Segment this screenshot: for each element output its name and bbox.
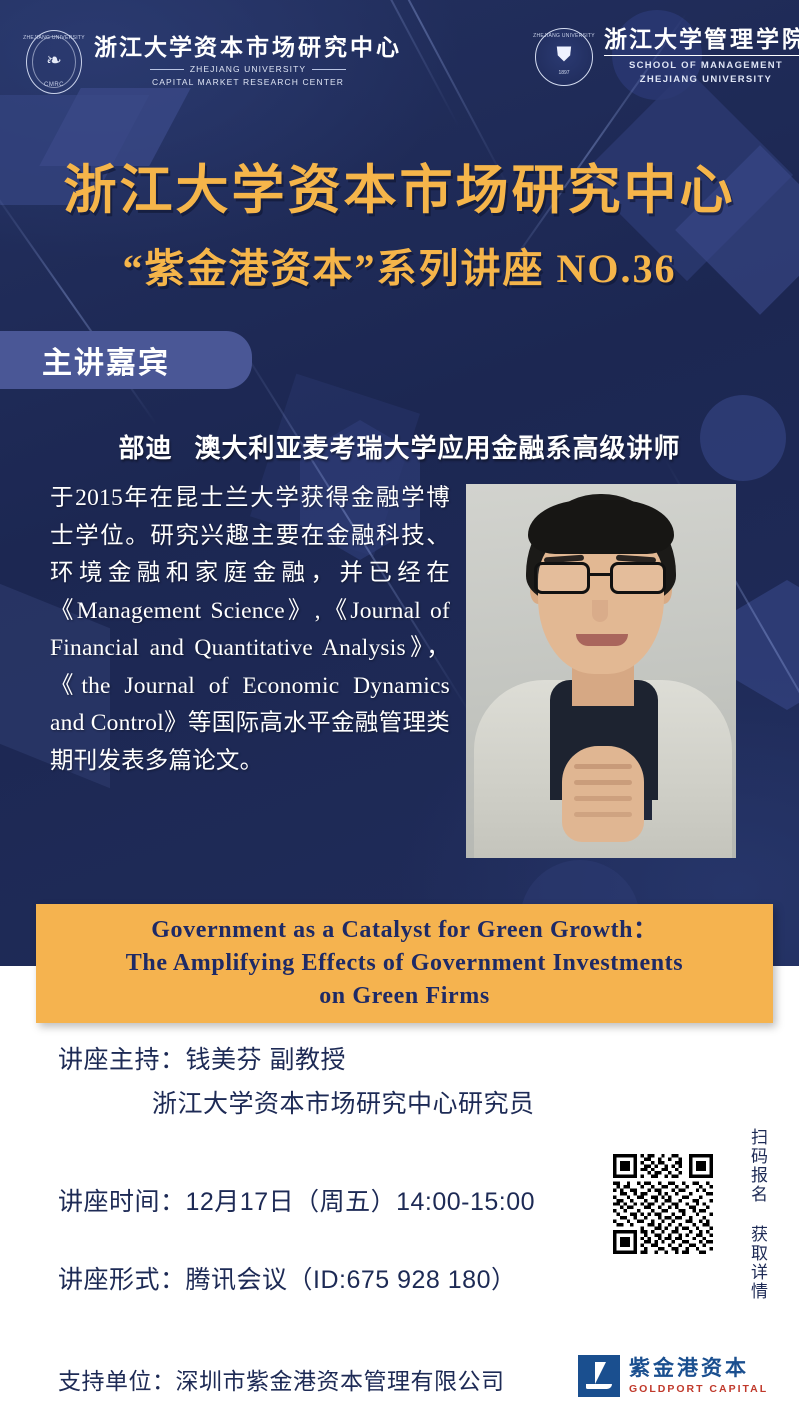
info-host-affiliation: 浙江大学资本市场研究中心研究员 [152, 1084, 535, 1120]
topic-line-2: The Amplifying Effects of Government Inv… [126, 947, 683, 980]
speaker-name: 部迪 [118, 434, 172, 463]
cmrc-logo-en: ZHEJIANG UNIVERSITY CAPITAL MARKET RESEA… [94, 63, 402, 88]
goldport-logo-text: 紫金港资本 GOLDPORT CAPITAL [629, 1357, 768, 1394]
som-en-line2: ZHEJIANG UNIVERSITY [604, 73, 799, 87]
goldport-sail-icon [578, 1355, 620, 1397]
som-en-line1: SCHOOL OF MANAGEMENT [604, 55, 799, 73]
info-host-line: 讲座主持：钱美芬 副教授 [58, 1040, 346, 1076]
speaker-photo [466, 484, 736, 858]
photo-hands [562, 746, 644, 842]
glasses-bridge [590, 573, 612, 576]
cmrc-cn-university: 浙江大学 [94, 35, 194, 60]
info-format-line: 讲座形式：腾讯会议（ID:675 928 180） [58, 1260, 516, 1296]
glasses-lens-left [534, 562, 590, 594]
photo-fringe [528, 500, 674, 554]
cmrc-cn-center: 资本市场研究中心 [194, 35, 402, 60]
cmrc-logo: ZHEJIANG UNIVERSITY ❧ CMRC 浙江大学资本市场研究中心 … [26, 30, 402, 94]
cmrc-en-line2: CAPITAL MARKET RESEARCH CENTER [94, 76, 402, 88]
speaker-name-line: 部迪澳大利亚麦考瑞大学应用金融系高级讲师 [0, 428, 799, 465]
zju-cmrc-seal-icon: ZHEJIANG UNIVERSITY ❧ CMRC [26, 30, 82, 94]
goldport-en-name: GOLDPORT CAPITAL [629, 1383, 768, 1395]
seal-bottom-text: CMRC [44, 82, 64, 88]
goldport-capital-logo: 紫金港资本 GOLDPORT CAPITAL [578, 1355, 768, 1397]
som-logo-text: 浙江大学管理学院 SCHOOL OF MANAGEMENT ZHEJIANG U… [604, 28, 799, 87]
registration-qr-code[interactable] [613, 1154, 713, 1254]
photo-mouth [576, 634, 628, 646]
poster-root: ZHEJIANG UNIVERSITY ❧ CMRC 浙江大学资本市场研究中心 … [0, 0, 799, 1422]
som-cn-university: 浙江大学 [604, 27, 704, 52]
info-time-line: 讲座时间：12月17日（周五）14:00-15:00 [58, 1182, 535, 1218]
som-logo: ZHEJIANG UNIVERSITY ⛊ 1897 浙江大学管理学院 SCHO… [535, 28, 799, 87]
glasses-lens-right [610, 562, 666, 594]
speaker-bio: 于2015年在昆士兰大学获得金融学博士学位。研究兴趣主要在金融科技、环境金融和家… [50, 480, 450, 780]
photo-glasses-icon [532, 562, 670, 596]
seal-ring-text: ZHEJIANG UNIVERSITY [23, 35, 85, 41]
lecture-topic-banner: Government as a Catalyst for Green Growt… [36, 904, 773, 1023]
som-cn-school: 管理学院 [704, 27, 799, 52]
guest-speaker-tab: 主讲嘉宾 [0, 331, 252, 389]
cmrc-logo-text: 浙江大学资本市场研究中心 ZHEJIANG UNIVERSITY CAPITAL… [94, 36, 402, 88]
guest-speaker-tab-label: 主讲嘉宾 [42, 338, 170, 382]
zju-bird-icon: ⛊ [557, 45, 572, 65]
som-logo-cn: 浙江大学管理学院 [604, 28, 799, 52]
cmrc-logo-cn: 浙江大学资本市场研究中心 [94, 36, 402, 60]
support-organization-line: 支持单位：深圳市紫金港资本管理有限公司 [58, 1362, 505, 1396]
speaker-affiliation: 澳大利亚麦考瑞大学应用金融系高级讲师 [195, 434, 681, 463]
poster-main-title: 浙江大学资本市场研究中心 [0, 148, 799, 224]
topic-line-3: on Green Firms [319, 980, 490, 1013]
som-seal-ring-text: ZHEJIANG UNIVERSITY [533, 33, 595, 39]
som-seal-year: 1897 [558, 70, 569, 76]
photo-nose [592, 600, 608, 622]
topic-line-1: Government as a Catalyst for Green Growt… [151, 914, 657, 947]
poster-subtitle: “紫金港资本”系列讲座 NO.36 [0, 236, 799, 294]
qr-code-icon[interactable] [613, 1154, 713, 1254]
cmrc-en-line1: ZHEJIANG UNIVERSITY [94, 63, 402, 75]
qr-instruction-text: 扫码报名 获取详情 [745, 1128, 770, 1301]
goldport-cn-name: 紫金港资本 [629, 1357, 768, 1380]
zju-som-seal-icon: ZHEJIANG UNIVERSITY ⛊ 1897 [535, 28, 593, 86]
seal-wave-glyph-icon: ❧ [46, 52, 62, 71]
som-logo-en: SCHOOL OF MANAGEMENT ZHEJIANG UNIVERSITY [604, 55, 799, 87]
